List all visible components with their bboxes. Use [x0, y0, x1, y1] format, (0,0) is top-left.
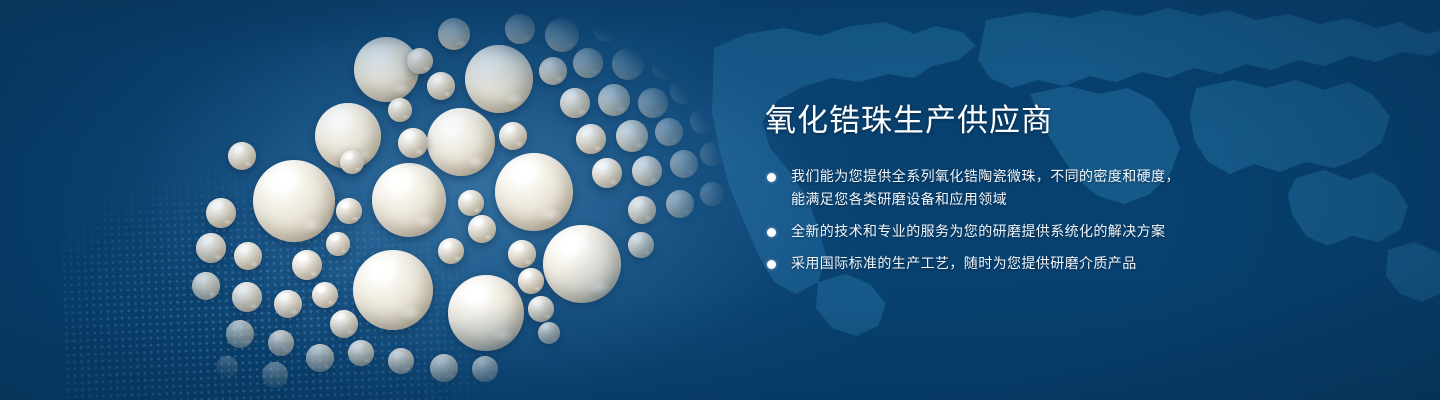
list-item-line: 能满足您各类研磨设备和应用领域 [791, 189, 1285, 212]
list-item-line: 全新的技术和专业的服务为您的研磨提供系统化的解决方案 [791, 221, 1285, 244]
banner-copy: 氧化锆珠生产供应商 我们能为您提供全系列氧化锆陶瓷微珠，不同的密度和硬度， 能满… [765, 104, 1285, 276]
bullet-dot-icon [767, 260, 776, 269]
list-item-line: 采用国际标准的生产工艺，随时为您提供研磨介质产品 [791, 253, 1285, 276]
list-item-line: 我们能为您提供全系列氧化锆陶瓷微珠，不同的密度和硬度， [791, 166, 1285, 189]
list-item: 我们能为您提供全系列氧化锆陶瓷微珠，不同的密度和硬度， 能满足您各类研磨设备和应… [765, 166, 1285, 212]
bullet-dot-icon [767, 228, 776, 237]
list-item: 采用国际标准的生产工艺，随时为您提供研磨介质产品 [765, 253, 1285, 276]
bullet-dot-icon [767, 173, 776, 182]
feature-list: 我们能为您提供全系列氧化锆陶瓷微珠，不同的密度和硬度， 能满足您各类研磨设备和应… [765, 166, 1285, 276]
page-title: 氧化锆珠生产供应商 [765, 104, 1285, 140]
hero-banner: 氧化锆珠生产供应商 我们能为您提供全系列氧化锆陶瓷微珠，不同的密度和硬度， 能满… [0, 0, 1440, 400]
list-item: 全新的技术和专业的服务为您的研磨提供系统化的解决方案 [765, 221, 1285, 244]
